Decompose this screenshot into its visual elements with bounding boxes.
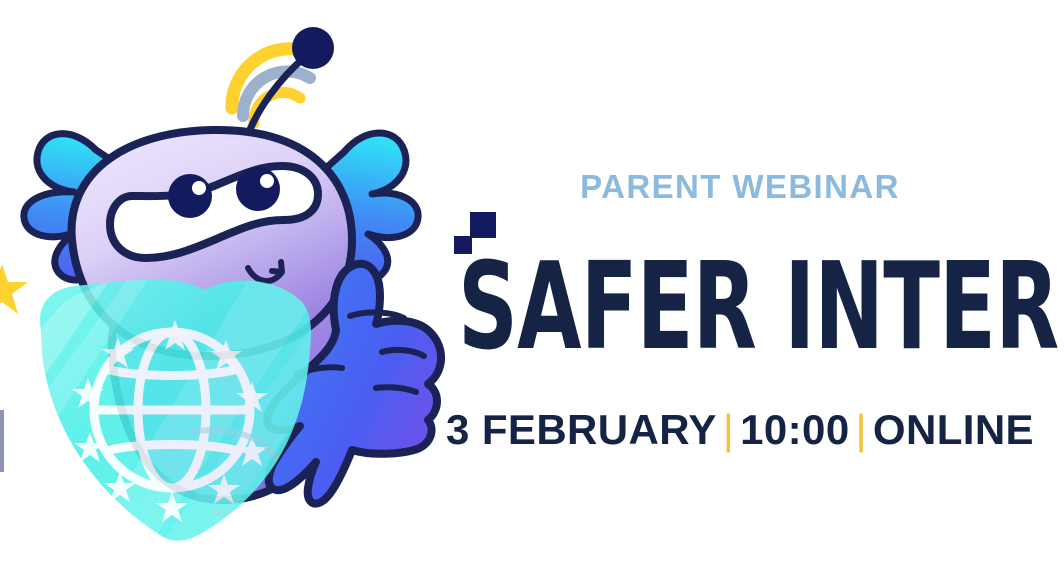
separator-1: | <box>717 406 740 453</box>
event-time: 10:00 <box>740 406 849 453</box>
separator-2: | <box>850 406 873 453</box>
event-mode: ONLINE <box>873 406 1034 453</box>
page-title: SAFER INTERNET <box>458 246 922 367</box>
event-details: 3 FEBRUARY|10:00|ONLINE <box>440 406 1040 454</box>
eye-left <box>168 174 212 218</box>
kicker-text: PARENT WEBINAR <box>440 168 1040 206</box>
wifi-antenna-icon <box>232 27 334 140</box>
eye-right <box>236 167 280 211</box>
poster-canvas: PARENT WEBINAR SAFER INTERNET 3 FEBRUARY… <box>0 0 1064 580</box>
text-column: PARENT WEBINAR SAFER INTERNET 3 FEBRUARY… <box>440 150 1040 490</box>
square-large <box>470 212 496 238</box>
event-date: 3 FEBRUARY <box>446 406 717 453</box>
robot-mascot <box>0 0 470 580</box>
